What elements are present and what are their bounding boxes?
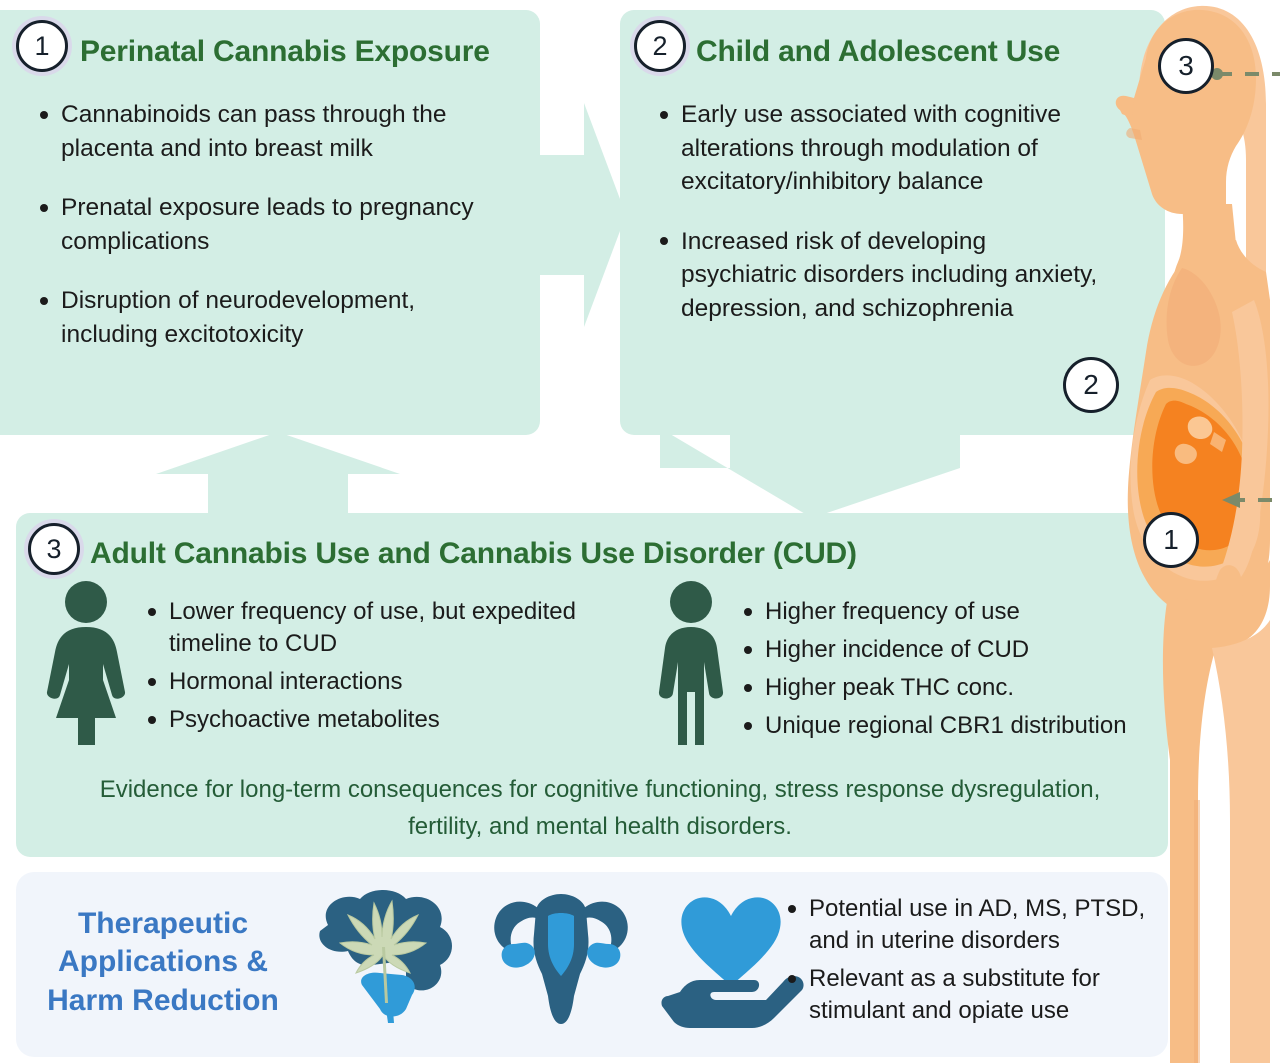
list-item: Psychoactive metabolites [142,704,632,736]
uterus-icon [476,888,646,1028]
panel3-number-badge: 3 [28,523,80,575]
figure-marker-belly-1: 1 [1143,512,1199,568]
list-item: Disruption of neurodevelopment, includin… [34,284,514,351]
infographic-canvas: 1 Perinatal Cannabis Exposure Cannabinoi… [0,0,1280,1063]
list-item: Cannabinoids can pass through the placen… [34,98,514,165]
figure-marker-head-3: 3 [1158,38,1214,94]
list-item: Hormonal interactions [142,666,632,698]
therapeutic-title-line3: Harm Reduction [47,984,279,1017]
panel1-bullet-list: Cannabinoids can pass through the placen… [34,98,514,377]
male-figure-icon [650,580,732,745]
figure-marker-womb-2: 2 [1063,357,1119,413]
panel2-title: Child and Adolescent Use [696,35,1060,69]
panel2-number-badge: 2 [634,20,686,72]
therapeutic-title-line2: Applications & [58,945,268,978]
arrow-panel3-to-panel1 [148,432,408,518]
list-item: Increased risk of developing psychiatric… [654,225,1104,326]
panel3-title: Adult Cannabis Use and Cannabis Use Diso… [90,537,857,571]
list-item: Lower frequency of use, but expedited ti… [142,596,632,660]
panel3-evidence-line-2: fertility, and mental health disorders. [40,810,1160,845]
arrow-panel1-to-panel2 [540,95,626,335]
panel2-bullet-list: Early use associated with cognitive alte… [654,98,1104,351]
brain-cannabis-leaf-icon [288,885,478,1030]
female-figure-icon [38,580,134,745]
panel3-female-bullet-list: Lower frequency of use, but expedited ti… [142,596,632,742]
panel1-number-badge: 1 [16,20,68,72]
panel3-evidence-line-1: Evidence for long-term consequences for … [40,773,1160,808]
therapeutic-title: Therapeutic Applications & Harm Reductio… [38,905,288,1020]
arrow-panel2-to-panel3 [660,428,960,518]
list-item: Early use associated with cognitive alte… [654,98,1104,199]
therapeutic-title-line1: Therapeutic [78,907,248,940]
panel1-title: Perinatal Cannabis Exposure [80,35,490,69]
list-item: Prenatal exposure leads to pregnancy com… [34,191,514,258]
